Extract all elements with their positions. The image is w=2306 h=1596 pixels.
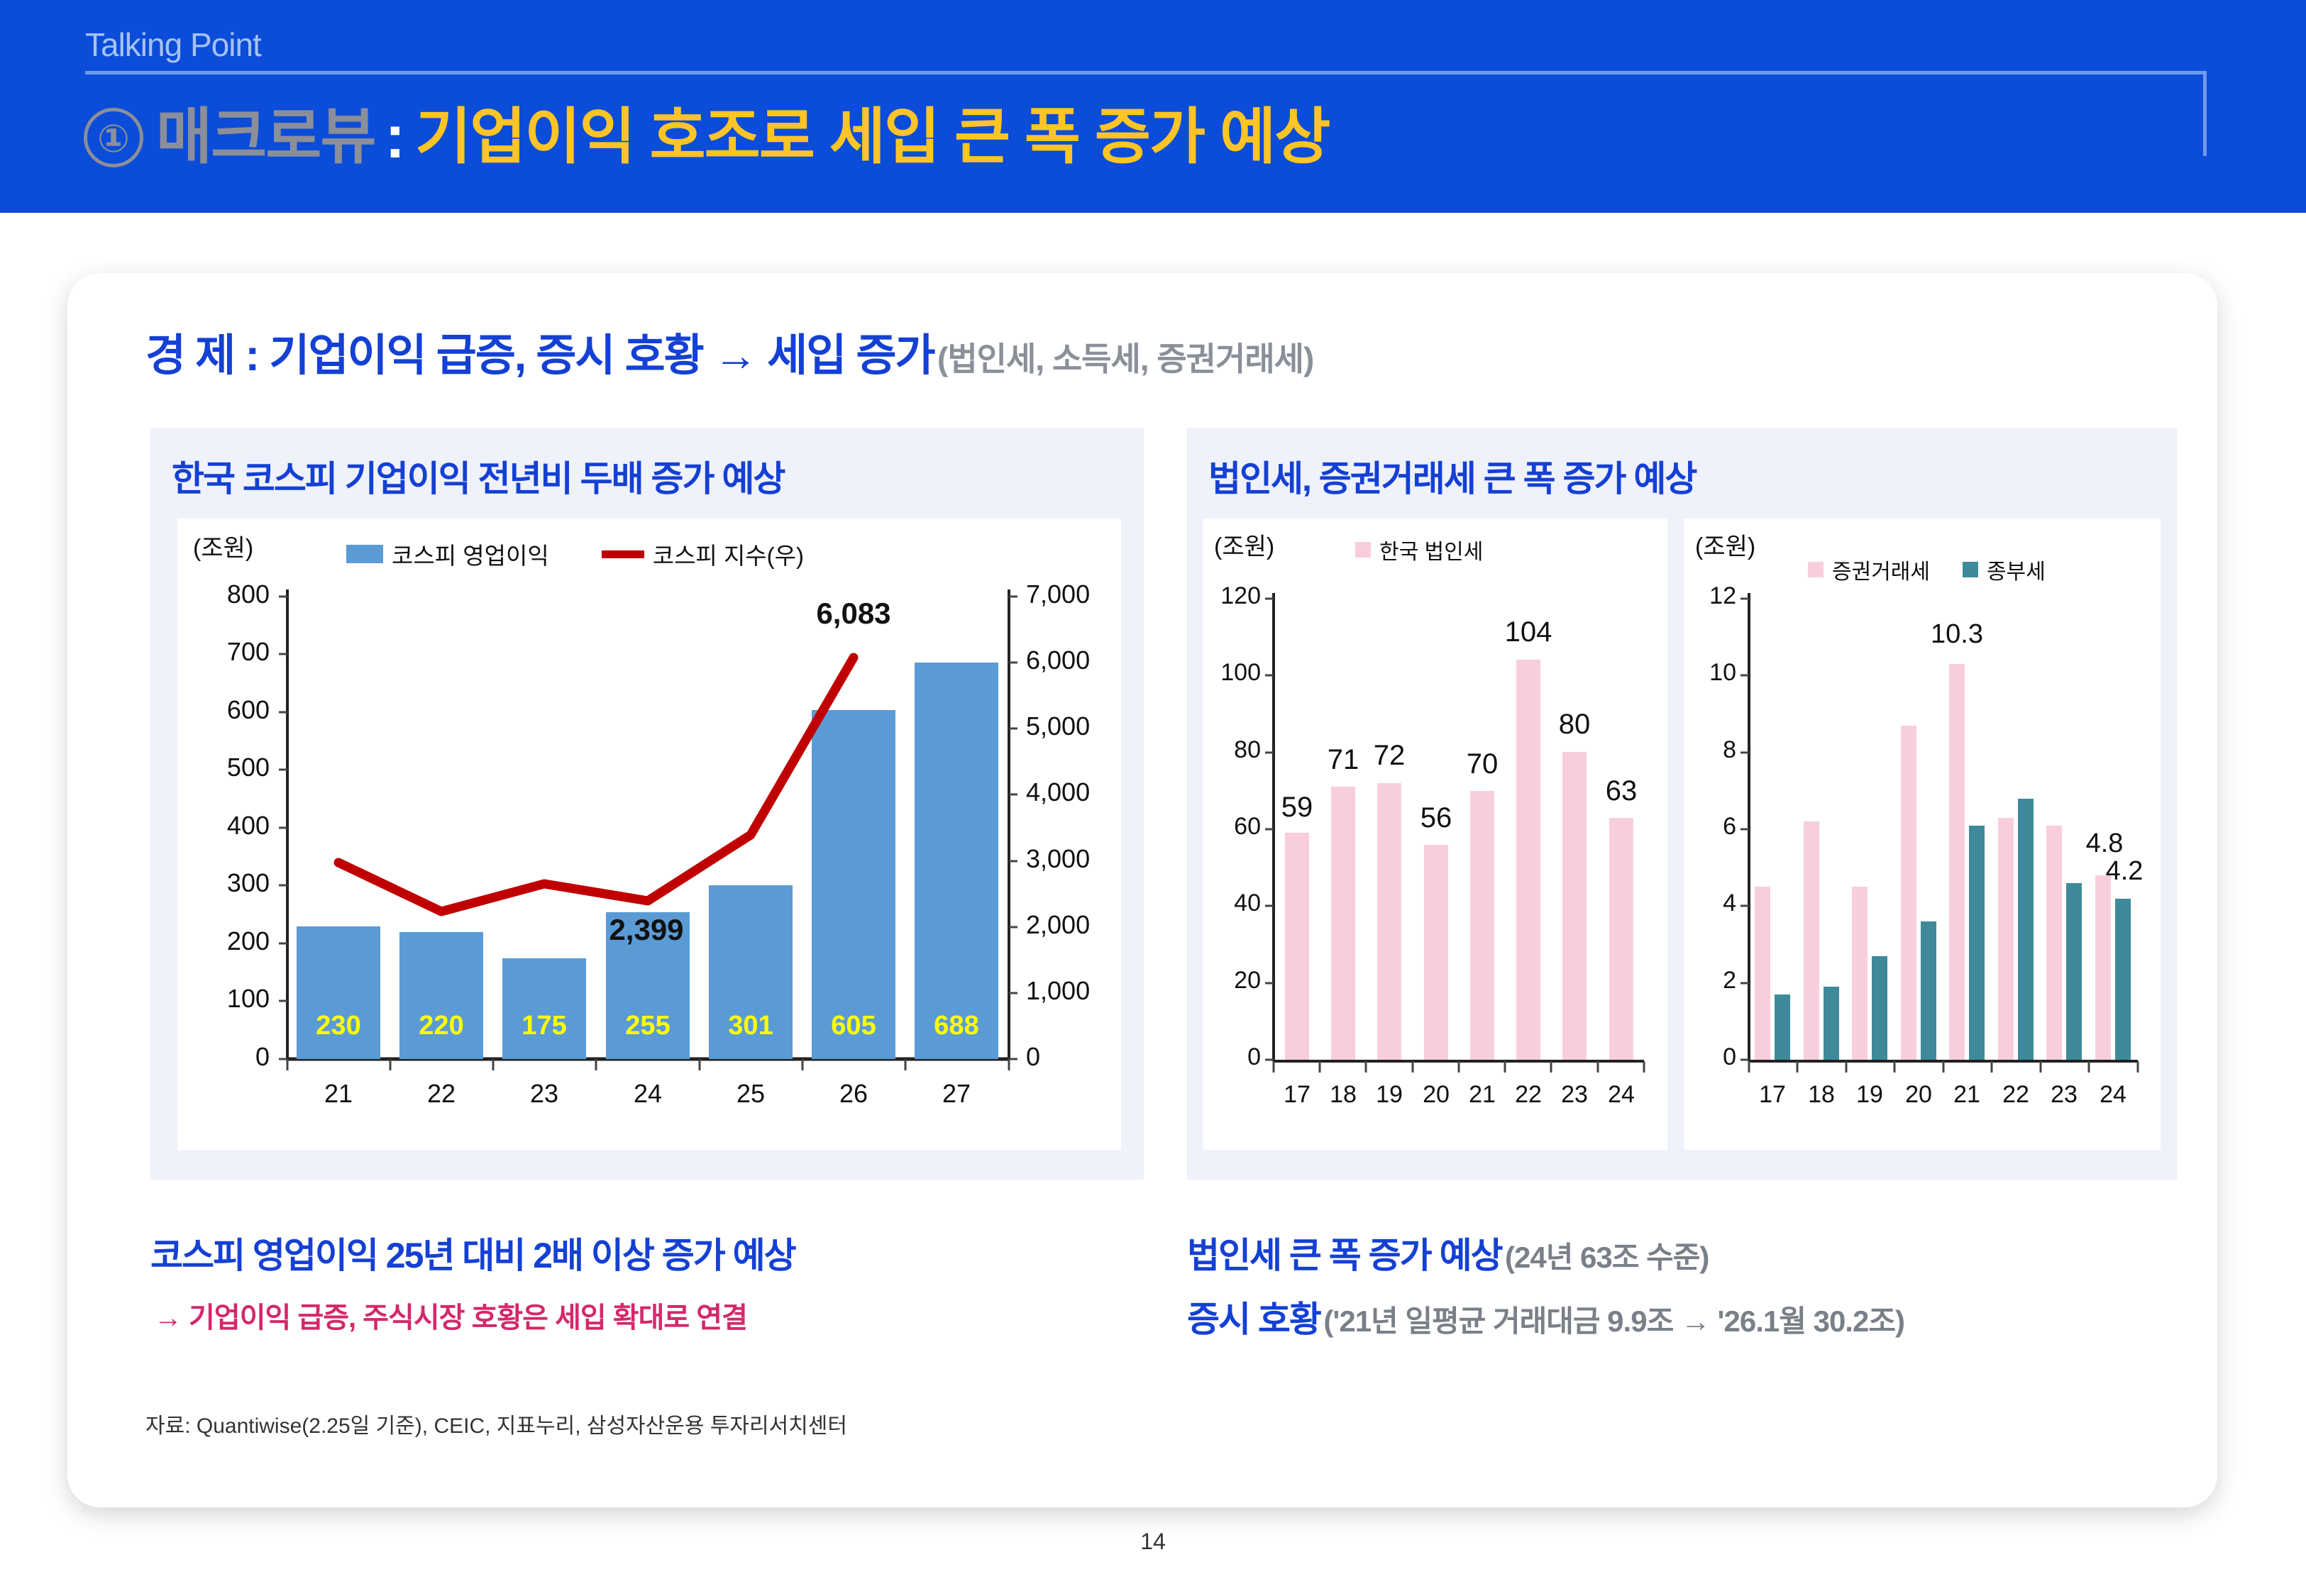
- bar-st-24-pink: [2095, 875, 2111, 1060]
- slide-title-yellow: 기업이익 호조로 세입 큰 폭 증가 예상: [415, 87, 1329, 175]
- right-caption-main-note: (24년 63조 수준): [1505, 1241, 1709, 1274]
- panel-right-heading: 법인세, 증권거래세 큰 폭 증가 예상: [1208, 450, 1696, 501]
- slide-title: ① 매크로뷰 : 기업이익 호조로 세입 큰 폭 증가 예상: [84, 87, 1329, 175]
- mid-ytick-60: 60: [1203, 813, 1261, 841]
- bar-st-21-pink: [1949, 664, 1965, 1060]
- right-ytick-4000: 4,000: [1026, 777, 1154, 807]
- mid-ytick-80: 80: [1203, 736, 1261, 764]
- bar-st-17-pink: [1755, 887, 1770, 1060]
- right-caption-sub-note: ('21년 일평균 거래대금 9.9조 → '26.1월 30.2조): [1323, 1304, 1904, 1338]
- right-caption-main-text: 법인세 큰 폭 증가 예상: [1187, 1236, 1502, 1275]
- header-divider: [85, 71, 2207, 74]
- left-chart-svg: [177, 519, 1121, 1150]
- right-caption-sub-text: 증시 호황: [1187, 1299, 1320, 1339]
- bar-label-27: 688: [915, 1011, 998, 1041]
- left-ytick-400: 400: [177, 811, 270, 841]
- bar-st-20-teal: [1921, 921, 1936, 1060]
- bar-ct-24: [1609, 818, 1633, 1060]
- right2-ytick-12: 12: [1684, 582, 1736, 610]
- bar-value-ct-20: 56: [1401, 802, 1472, 834]
- right2-ytick-8: 8: [1684, 736, 1736, 764]
- slide-number-badge: ①: [84, 108, 143, 167]
- panel-kospi-profit: 한국 코스피 기업이익 전년비 두배 증가 예상 (조원) 코스피 영업이익 코…: [150, 428, 1144, 1180]
- bar-st-23-pink: [2046, 826, 2062, 1060]
- bar-label-24: 255: [606, 1011, 690, 1041]
- bar-label-21: 230: [297, 1011, 380, 1041]
- mid-chart-svg: [1203, 519, 1667, 1150]
- right2-ytick-0: 0: [1684, 1043, 1736, 1071]
- right2-ytick-4: 4: [1684, 890, 1736, 917]
- section-heading-main: 경 제 : 기업이익 급증, 증시 호황 → 세입 증가: [145, 331, 934, 380]
- right-ytick-7000: 7,000: [1026, 580, 1154, 609]
- left-xtick-24: 24: [606, 1079, 690, 1109]
- bar-label-25: 301: [709, 1011, 793, 1041]
- left-ytick-200: 200: [177, 926, 270, 956]
- right-ytick-0: 0: [1026, 1042, 1154, 1072]
- bar-st-18-teal: [1824, 987, 1839, 1060]
- right-caption-sub: 증시 호황 ('21년 일평균 거래대금 9.9조 → '26.1월 30.2조…: [1187, 1291, 1904, 1342]
- left-caption-main-text: 코스피 영업이익 25년 대비 2배 이상 증가 예상: [150, 1236, 795, 1275]
- left-xtick-26: 26: [812, 1079, 895, 1109]
- mid-ytick-20: 20: [1203, 967, 1261, 994]
- kospi-index-line: [338, 658, 854, 911]
- right2-ytick-10: 10: [1684, 659, 1736, 687]
- chart-corporate-tax: (조원) 한국 법인세: [1203, 519, 1667, 1150]
- bar-ct-19: [1377, 783, 1401, 1060]
- mid-ytick-100: 100: [1203, 659, 1261, 687]
- slide-root: Talking Point ① 매크로뷰 : 기업이익 호조로 세입 큰 폭 증…: [0, 0, 2306, 1596]
- left-xtick-22: 22: [399, 1079, 483, 1109]
- page-number: 14: [0, 1529, 2306, 1555]
- mid-ytick-120: 120: [1203, 582, 1261, 610]
- chart-kospi-profit: (조원) 코스피 영업이익 코스피 지수(우): [177, 519, 1121, 1150]
- eyebrow-label: Talking Point: [85, 26, 261, 64]
- right-ytick-6000: 6,000: [1026, 645, 1154, 675]
- panel-left-heading: 한국 코스피 기업이익 전년비 두배 증가 예상: [172, 450, 784, 501]
- left-xtick-21: 21: [297, 1079, 380, 1109]
- right-ytick-1000: 1,000: [1026, 976, 1154, 1006]
- left-ytick-500: 500: [177, 753, 270, 782]
- slide-title-gray: 매크로뷰: [156, 87, 375, 175]
- right-ytick-2000: 2,000: [1026, 910, 1154, 940]
- right2-ytick-6: 6: [1684, 813, 1736, 841]
- slide-title-colon: :: [375, 102, 415, 172]
- section-heading: 경 제 : 기업이익 급증, 증시 호황 → 세입 증가 (법인세, 소득세, …: [145, 319, 1313, 383]
- bar-st-19-pink: [1852, 887, 1868, 1060]
- bar-value-ct-24: 63: [1586, 775, 1657, 807]
- bar-ct-22: [1516, 660, 1540, 1060]
- mid-xtick-24: 24: [1586, 1081, 1657, 1109]
- bar-st-20-pink: [1901, 726, 1916, 1060]
- content-card: 경 제 : 기업이익 급증, 증시 호황 → 세입 증가 (법인세, 소득세, …: [67, 273, 2217, 1507]
- bar-value-ct-22: 104: [1493, 616, 1564, 648]
- bar-label-22: 220: [399, 1011, 483, 1041]
- bar-ct-18: [1331, 787, 1355, 1060]
- left-ytick-700: 700: [177, 637, 270, 667]
- bar-value-ct-19: 72: [1354, 740, 1425, 772]
- mid-ytick-0: 0: [1203, 1043, 1261, 1071]
- left-ytick-300: 300: [177, 868, 270, 898]
- bar-value-ct-21: 70: [1447, 748, 1518, 780]
- left-ytick-0: 0: [177, 1042, 270, 1072]
- right-ytick-3000: 3,000: [1026, 844, 1154, 874]
- bar-st-22-pink: [1998, 818, 2014, 1060]
- bar-23: [502, 958, 586, 1059]
- right2-ytick-2: 2: [1684, 967, 1736, 994]
- annotation-6083: 6,083: [786, 597, 921, 631]
- left-ytick-800: 800: [177, 580, 270, 609]
- annotation-4-8: 4.8: [2058, 829, 2151, 859]
- bar-st-21-teal: [1969, 826, 1985, 1060]
- annotation-2399: 2,399: [579, 913, 714, 947]
- bar-st-23-teal: [2066, 883, 2082, 1060]
- bar-ct-20: [1424, 845, 1448, 1060]
- left-caption-sub: → 기업이익 급증, 주식시장 호황은 세입 확대로 연결: [154, 1295, 747, 1336]
- panel-tax: 법인세, 증권거래세 큰 폭 증가 예상 (조원) 한국 법인세: [1187, 428, 2177, 1180]
- left-xtick-23: 23: [502, 1079, 586, 1109]
- right2-xtick-24: 24: [2078, 1081, 2148, 1109]
- bar-st-18-pink: [1804, 821, 1819, 1060]
- left-caption-sub-text: → 기업이익 급증, 주식시장 호황은 세입 확대로 연결: [154, 1302, 747, 1334]
- bar-label-26: 605: [812, 1011, 895, 1041]
- bar-value-ct-23: 80: [1539, 709, 1610, 741]
- right-caption-main: 법인세 큰 폭 증가 예상 (24년 63조 수준): [1187, 1227, 1709, 1278]
- bar-27: [915, 663, 998, 1059]
- bar-26: [812, 710, 895, 1059]
- bar-label-23: 175: [502, 1011, 586, 1041]
- left-caption-main: 코스피 영업이익 25년 대비 2배 이상 증가 예상: [150, 1227, 795, 1278]
- bar-ct-23: [1562, 752, 1587, 1060]
- chart-securities-tax: (조원) 증권거래세 종부세: [1684, 519, 2161, 1150]
- mid-ytick-40: 40: [1203, 890, 1261, 917]
- left-ytick-600: 600: [177, 695, 270, 725]
- left-xtick-25: 25: [709, 1079, 793, 1109]
- bar-st-24-teal: [2115, 899, 2131, 1060]
- bar-st-22-teal: [2018, 799, 2034, 1060]
- left-ytick-100: 100: [177, 984, 270, 1014]
- bar-ct-17: [1285, 833, 1309, 1060]
- bar-st-17-teal: [1775, 994, 1790, 1060]
- annotation-10-3: 10.3: [1911, 619, 2003, 650]
- section-heading-note: (법인세, 소득세, 증권거래세): [937, 340, 1313, 377]
- annotation-4-2: 4.2: [2078, 856, 2170, 887]
- header-divider-right: [2203, 71, 2207, 156]
- left-xtick-27: 27: [915, 1079, 998, 1109]
- bar-value-ct-17: 59: [1262, 792, 1333, 824]
- bar-ct-21: [1470, 791, 1494, 1060]
- right-ytick-5000: 5,000: [1026, 711, 1154, 741]
- bar-st-19-teal: [1872, 956, 1887, 1060]
- slide-header: Talking Point ① 매크로뷰 : 기업이익 호조로 세입 큰 폭 증…: [0, 0, 2306, 213]
- source-note: 자료: Quantiwise(2.25일 기준), CEIC, 지표누리, 삼성…: [145, 1408, 847, 1439]
